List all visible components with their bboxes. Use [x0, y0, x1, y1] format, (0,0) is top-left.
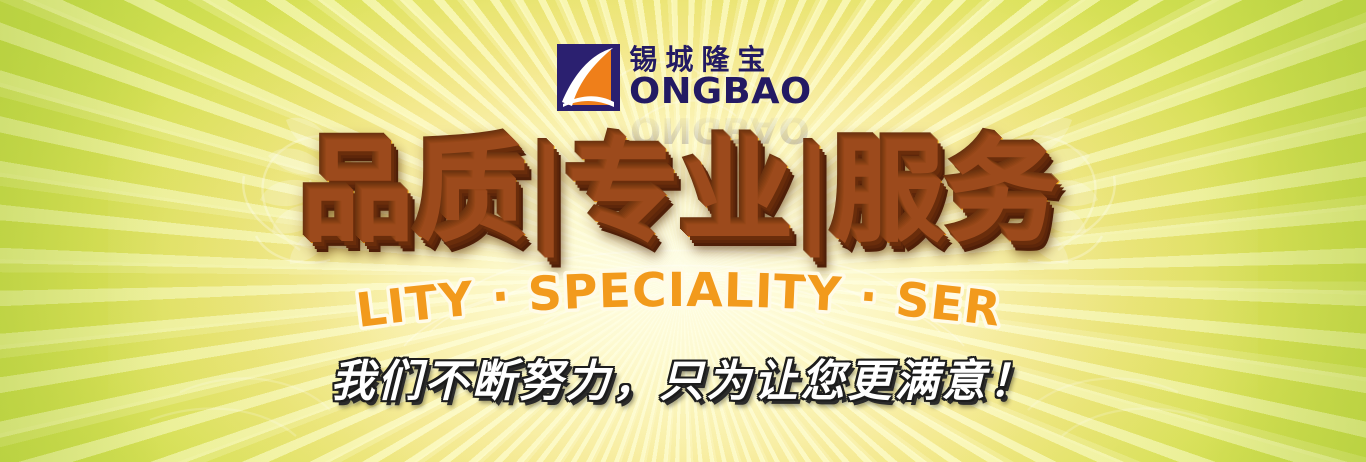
tagline-area: 我们不断努力，只为让您更满意！: [0, 352, 1366, 412]
logo-english-name: ONGBAO: [629, 74, 812, 110]
headline-separator-2: |: [797, 129, 835, 259]
tagline-text: 我们不断努力，只为让您更满意！: [331, 360, 1036, 404]
brand-logo[interactable]: 锡城隆宝 ONGBAO: [0, 44, 1366, 111]
headline-separator-1: |: [531, 129, 569, 259]
headline-area: 品质|专业|服务: [0, 126, 1366, 261]
headline-part-service: 服务: [835, 129, 1063, 259]
headline-part-quality: 品质: [303, 129, 531, 259]
headline-3d-text: 品质|专业|服务: [303, 138, 1062, 250]
company-banner: 锡城隆宝 ONGBAO ONGBAO 品质|专业|服务: [0, 0, 1366, 462]
banner-content: 锡城隆宝 ONGBAO ONGBAO 品质|专业|服务: [0, 0, 1366, 462]
subheadline-arc-svg: QUALITY · SPECIALITY · SERVICE: [343, 278, 1023, 340]
longbao-sail-logo-icon: [557, 44, 620, 111]
headline-part-speciality: 专业: [569, 129, 797, 259]
subheadline-area: QUALITY · SPECIALITY · SERVICE: [0, 278, 1366, 340]
